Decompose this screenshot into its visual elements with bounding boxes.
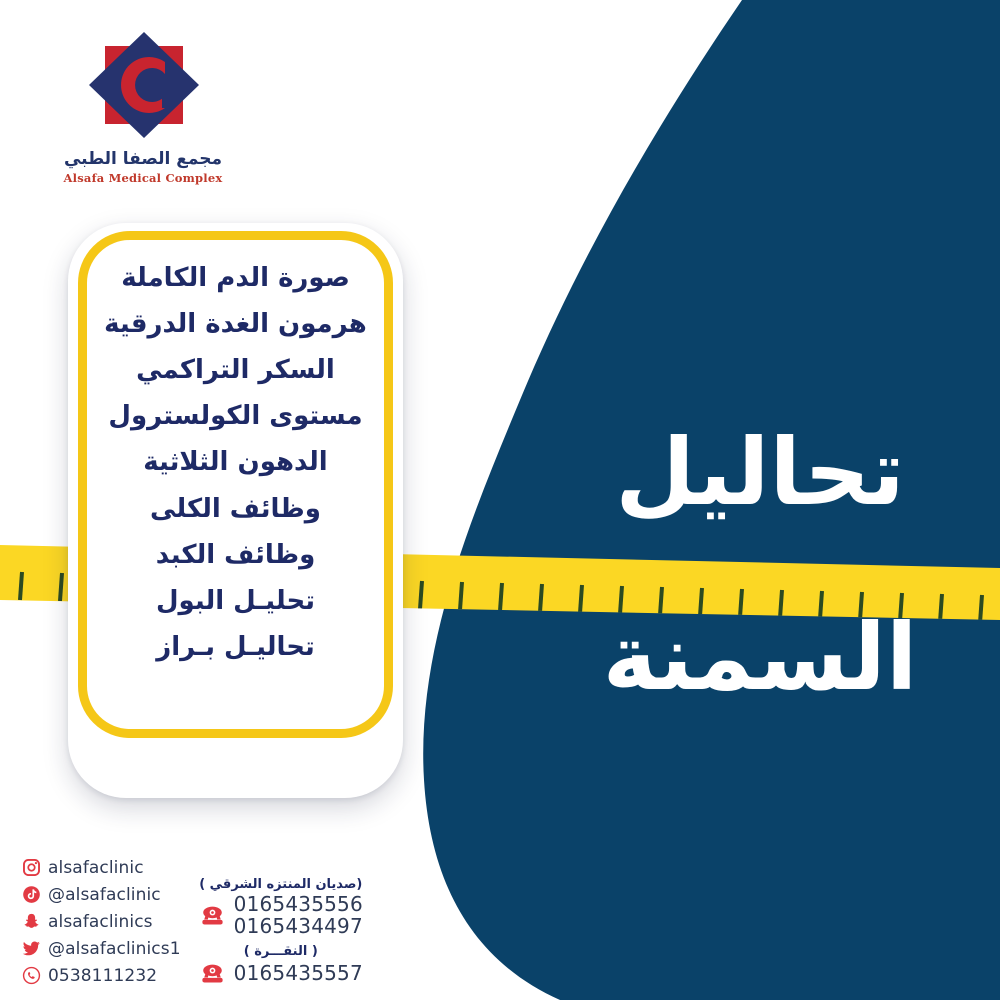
- branch-name-label: ( النقـــرة ): [199, 944, 363, 959]
- branch-name-label: (صديان المنتزه الشرقي ): [199, 877, 363, 892]
- branch-phone-group-2[interactable]: 0165435557: [199, 960, 363, 987]
- brand-name-arabic: مجمع الصفا الطبي: [48, 150, 238, 169]
- social-row-tiktok[interactable]: @alsafaclinic: [22, 882, 181, 907]
- list-item: وظائف الكبد: [156, 534, 316, 576]
- list-item: صورة الدم الكاملة: [121, 257, 350, 299]
- instagram-icon: [22, 858, 41, 877]
- alsafa-diamond-cross-logo-icon: [83, 26, 203, 144]
- social-row-instagram[interactable]: alsafaclinic: [22, 855, 181, 880]
- branch-phone-group-1[interactable]: 0165435556 0165434497: [199, 893, 363, 938]
- title-word-tahaleel: تحاليل: [560, 425, 960, 522]
- brand-logo-block: مجمع الصفا الطبي Alsafa Medical Complex: [48, 26, 238, 185]
- telephone-icon: [199, 902, 226, 929]
- snapchat-icon: [22, 912, 41, 931]
- social-handle-label: alsafaclinic: [48, 858, 144, 878]
- list-item: وظائف الكلى: [150, 488, 321, 530]
- footer-contact-block: alsafaclinic @alsafaclinic alsafaclinics: [22, 855, 363, 988]
- list-item: هرمون الغدة الدرقية: [104, 303, 367, 345]
- branch-phone-numbers-1: 0165435556 0165434497: [234, 893, 363, 938]
- social-handle-label: @alsafaclinics1: [48, 939, 181, 959]
- list-item: السكر التراكمي: [136, 349, 335, 391]
- social-row-snapchat[interactable]: alsafaclinics: [22, 909, 181, 934]
- twitter-icon: [22, 939, 41, 958]
- title-word-simna: السمنة: [560, 610, 960, 707]
- brand-name-english: Alsafa Medical Complex: [48, 171, 238, 185]
- social-handle-label: @alsafaclinic: [48, 885, 161, 905]
- social-row-whatsapp[interactable]: 0538111232: [22, 963, 181, 988]
- list-item: الدهون الثلاثية: [143, 441, 327, 483]
- social-handles-list: alsafaclinic @alsafaclinic alsafaclinics: [22, 855, 181, 988]
- tests-list: صورة الدم الكاملة هرمون الغدة الدرقية ال…: [86, 257, 385, 668]
- branch-phones-list: (صديان المنتزه الشرقي ) 0165435556 01654…: [199, 855, 363, 987]
- page-title-line2: السمنة: [560, 610, 960, 707]
- list-item: تحليـل البول: [156, 580, 315, 622]
- whatsapp-icon: [22, 966, 41, 985]
- tiktok-icon: [22, 885, 41, 904]
- tests-card: صورة الدم الكاملة هرمون الغدة الدرقية ال…: [68, 223, 403, 798]
- phone-number: 0165435557: [234, 962, 363, 984]
- telephone-icon: [199, 960, 226, 987]
- social-handle-label: alsafaclinics: [48, 912, 153, 932]
- poster-canvas: مجمع الصفا الطبي Alsafa Medical Complex …: [0, 0, 1000, 1000]
- phone-number: 0165434497: [234, 915, 363, 937]
- list-item: مستوى الكولسترول: [108, 395, 362, 437]
- branch-phone-numbers-2: 0165435557: [234, 962, 363, 984]
- social-handle-label: 0538111232: [48, 966, 157, 986]
- social-row-twitter[interactable]: @alsafaclinics1: [22, 936, 181, 961]
- phone-number: 0165435556: [234, 893, 363, 915]
- list-item: تحاليـل بـراز: [156, 626, 315, 668]
- page-title-line1: تحاليل: [560, 425, 960, 522]
